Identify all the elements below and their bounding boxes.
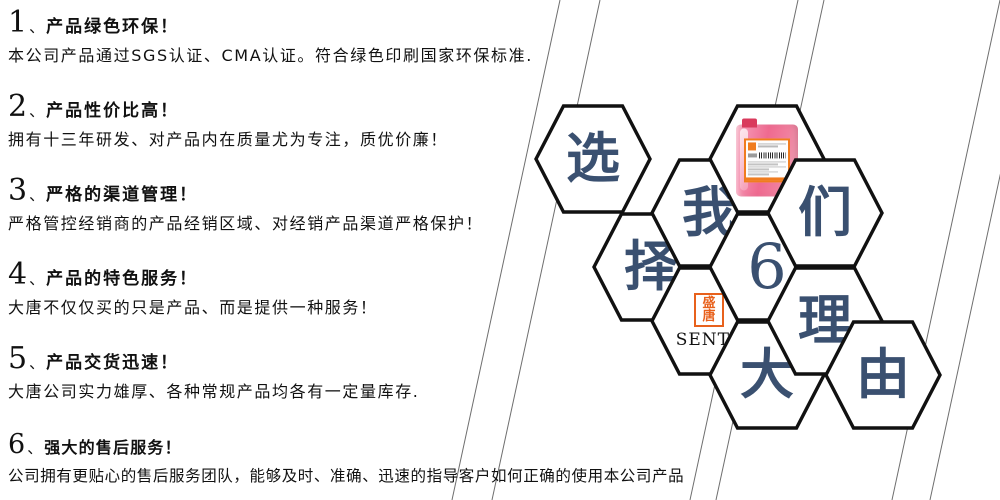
honeycomb-graphic: 选 择 我 — [0, 0, 1000, 500]
hex-cell-you: 由 — [824, 320, 942, 430]
hex-cell-men: 们 — [766, 158, 884, 268]
poster-canvas: 1 、 产品绿色环保！ 本公司产品通过SGS认证、CMA认证。符合绿色印刷国家环… — [0, 0, 1000, 500]
hex-cell-xuan: 选 — [534, 104, 652, 214]
